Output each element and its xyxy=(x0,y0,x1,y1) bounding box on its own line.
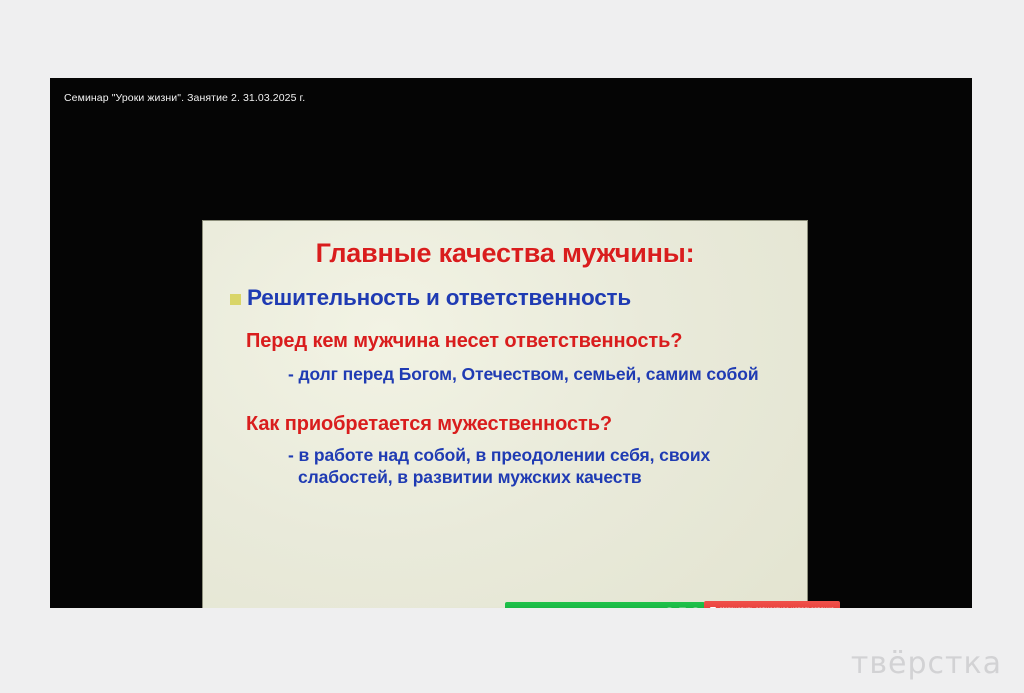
slide-title: Главные качества мужчины: xyxy=(224,238,786,269)
slide-question-2: Как приобретается мужественность? xyxy=(246,412,786,437)
slide-block-1: Перед кем мужчина несет ответственность?… xyxy=(224,329,786,386)
slide-question-1: Перед кем мужчина несет ответственность? xyxy=(246,329,786,354)
screen-share-frame: Семинар "Уроки жизни". Занятие 2. 31.03.… xyxy=(50,78,972,608)
presentation-slide: Главные качества мужчины: Решительность … xyxy=(202,220,808,608)
stop-share-label: Остановить совместное использование xyxy=(720,607,834,608)
slide-answer-1: - долг перед Богом, Отечеством, семьей, … xyxy=(246,363,786,386)
sharing-status-bar[interactable]: Вы запустили демонстрацию экрана xyxy=(505,602,705,608)
watermark-label: твёрстка xyxy=(851,649,1002,679)
sharing-bar-controls xyxy=(666,607,699,608)
slide-bullet-item: Решительность и ответственность xyxy=(224,285,786,311)
sharing-status-label: Вы запустили демонстрацию экрана xyxy=(544,608,649,609)
seminar-header-title: Семинар "Уроки жизни". Занятие 2. 31.03.… xyxy=(64,92,305,104)
pencil-icon[interactable] xyxy=(511,607,518,608)
stop-square-icon xyxy=(710,607,716,608)
slide-content: Главные качества мужчины: Решительность … xyxy=(202,220,808,608)
sharing-window-icon[interactable] xyxy=(679,607,686,608)
sharing-record-icon[interactable] xyxy=(666,607,673,608)
stop-share-button[interactable]: Остановить совместное использование xyxy=(704,601,840,608)
slide-answer-2: - в работе над собой, в преодолении себя… xyxy=(246,444,786,490)
sharing-settings-icon[interactable] xyxy=(692,607,699,608)
slide-bullet-label: Решительность и ответственность xyxy=(247,285,631,311)
screenshot-root: Семинар "Уроки жизни". Занятие 2. 31.03.… xyxy=(0,0,1024,693)
bullet-square-icon xyxy=(230,294,241,305)
slide-block-2: Как приобретается мужественность? - в ра… xyxy=(224,412,786,490)
